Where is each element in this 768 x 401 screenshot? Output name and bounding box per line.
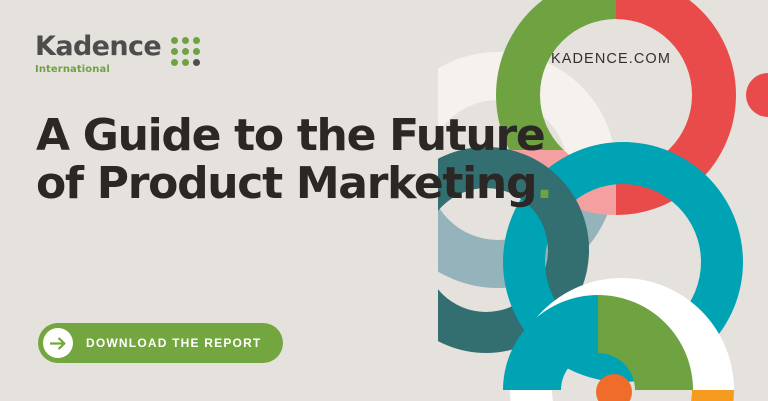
page-title: A Guide to the Future of Product Marketi… (36, 112, 556, 207)
dot-orange (596, 374, 632, 401)
site-url[interactable]: KADENCE.COM (551, 51, 671, 67)
download-report-label: DOWNLOAD THE REPORT (86, 336, 261, 350)
arc-teal-green-ring (503, 295, 693, 390)
logo-dot-accent (193, 59, 200, 66)
headline-period: . (536, 158, 551, 209)
logo-dot (193, 37, 200, 44)
promo-banner: Kadence International KADENCE.COM A Guid… (0, 0, 768, 401)
arc-white-orange-ring (498, 270, 752, 401)
headline-text: A Guide to the Future of Product Marketi… (36, 110, 544, 209)
arc-green-nub (478, 270, 512, 325)
logo-wordmark: Kadence (35, 33, 161, 60)
logo-dot (171, 37, 178, 44)
logo-dot (182, 48, 189, 55)
brand-logo[interactable]: Kadence International (35, 33, 200, 75)
logo-dot (182, 59, 189, 66)
logo-tagline: International (35, 65, 161, 75)
download-report-button[interactable]: DOWNLOAD THE REPORT (38, 323, 283, 363)
logo-text-group: Kadence International (35, 33, 161, 75)
nine-dot-grid-icon (171, 37, 200, 66)
logo-dot (171, 48, 178, 55)
dot-red (746, 73, 768, 117)
logo-dot (182, 37, 189, 44)
logo-dot (171, 59, 178, 66)
logo-dot (193, 48, 200, 55)
arrow-right-icon (43, 328, 73, 358)
